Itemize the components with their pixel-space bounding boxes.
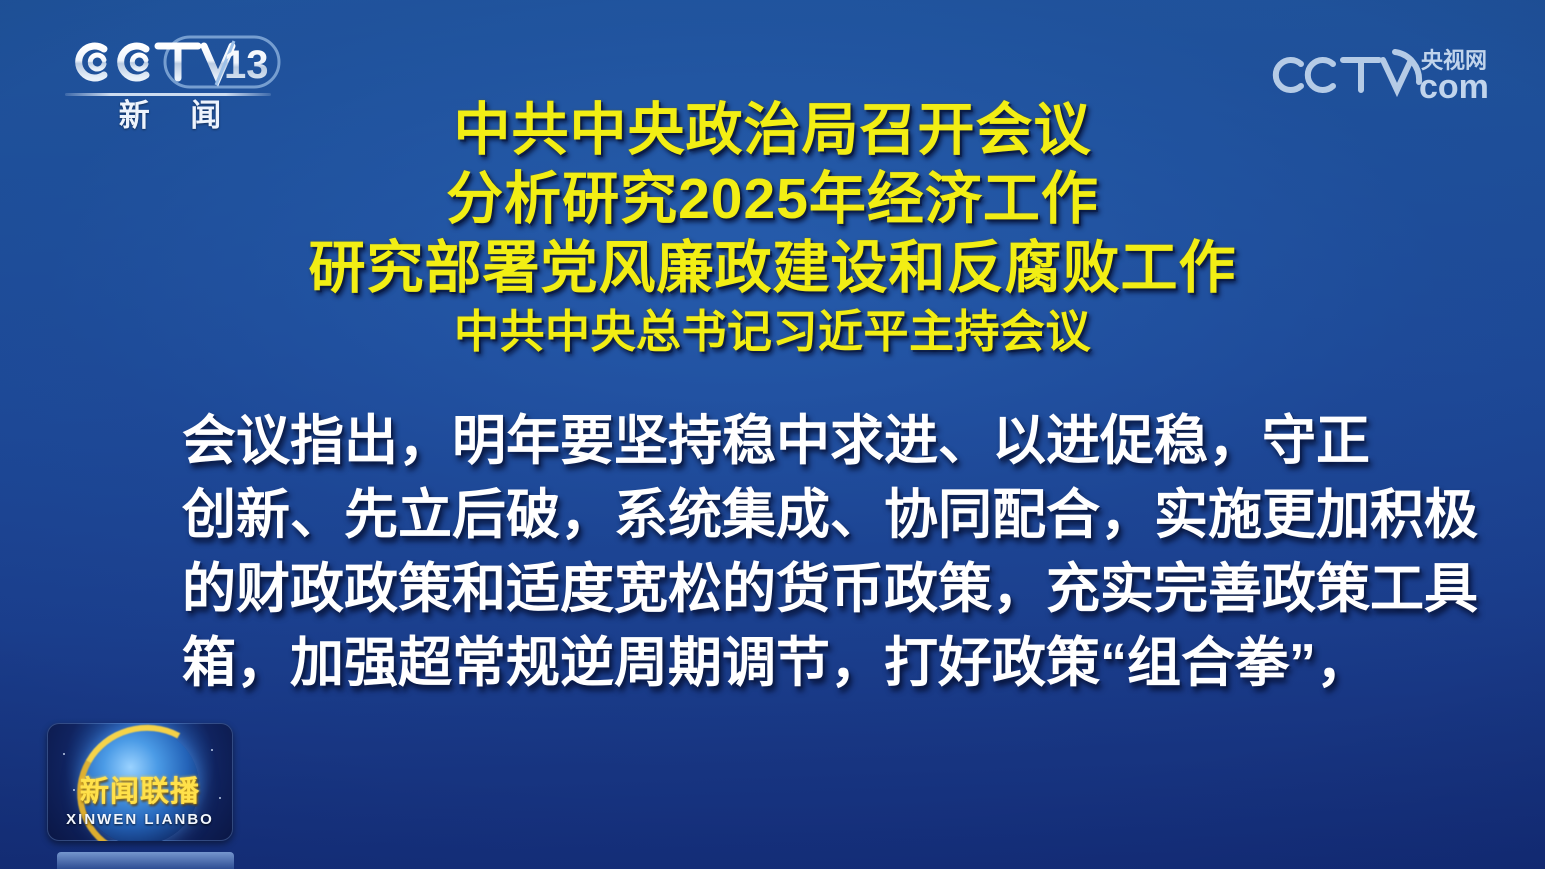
- headline-line-4: 中共中央总书记习近平主持会议: [0, 303, 1545, 361]
- svg-text:com: com: [1419, 68, 1489, 106]
- xinwen-lianbo-title: 新闻联播: [47, 776, 233, 808]
- broadcast-screen: 13 新 闻 央视网 com 中共中央政治局召开会议 分析研究2025年经济工作…: [0, 0, 1545, 869]
- cctv13-logo-mark: 13: [58, 33, 282, 90]
- lower-third-strip: [57, 852, 234, 869]
- subtitle-line-2: 创新、先立后破，系统集成、协同配合，实施更加积极: [182, 478, 1397, 552]
- xinwen-lianbo-bug: 新闻联播 XINWEN LIANBO: [47, 723, 233, 841]
- subtitle-paragraph: 会议指出，明年要坚持稳中求进、以进促稳，守正 创新、先立后破，系统集成、协同配合…: [182, 404, 1397, 700]
- xinwen-lianbo-pinyin: XINWEN LIANBO: [47, 811, 233, 829]
- star-icon: [63, 753, 65, 755]
- headline-block: 中共中央政治局召开会议 分析研究2025年经济工作 研究部署党风廉政建设和反腐败…: [0, 96, 1545, 361]
- svg-text:13: 13: [224, 43, 269, 87]
- cctv13-subtitle: 新 闻: [58, 99, 282, 133]
- cctv13-channel-logo: 13 新 闻: [58, 33, 282, 133]
- headline-line-2: 分析研究2025年经济工作: [0, 165, 1545, 234]
- cctv-com-watermark-mark: 央视网 com: [1271, 26, 1509, 108]
- cctv13-underline: [65, 93, 271, 96]
- subtitle-line-1: 会议指出，明年要坚持稳中求进、以进促稳，守正: [182, 404, 1397, 478]
- subtitle-line-3: 的财政政策和适度宽松的货币政策，充实完善政策工具: [182, 552, 1397, 626]
- subtitle-line-4: 箱，加强超常规逆周期调节，打好政策“组合拳”，: [182, 626, 1397, 700]
- star-icon: [211, 749, 213, 751]
- cctv-com-watermark: 央视网 com: [1271, 26, 1509, 108]
- headline-line-3: 研究部署党风廉政建设和反腐败工作: [0, 234, 1545, 303]
